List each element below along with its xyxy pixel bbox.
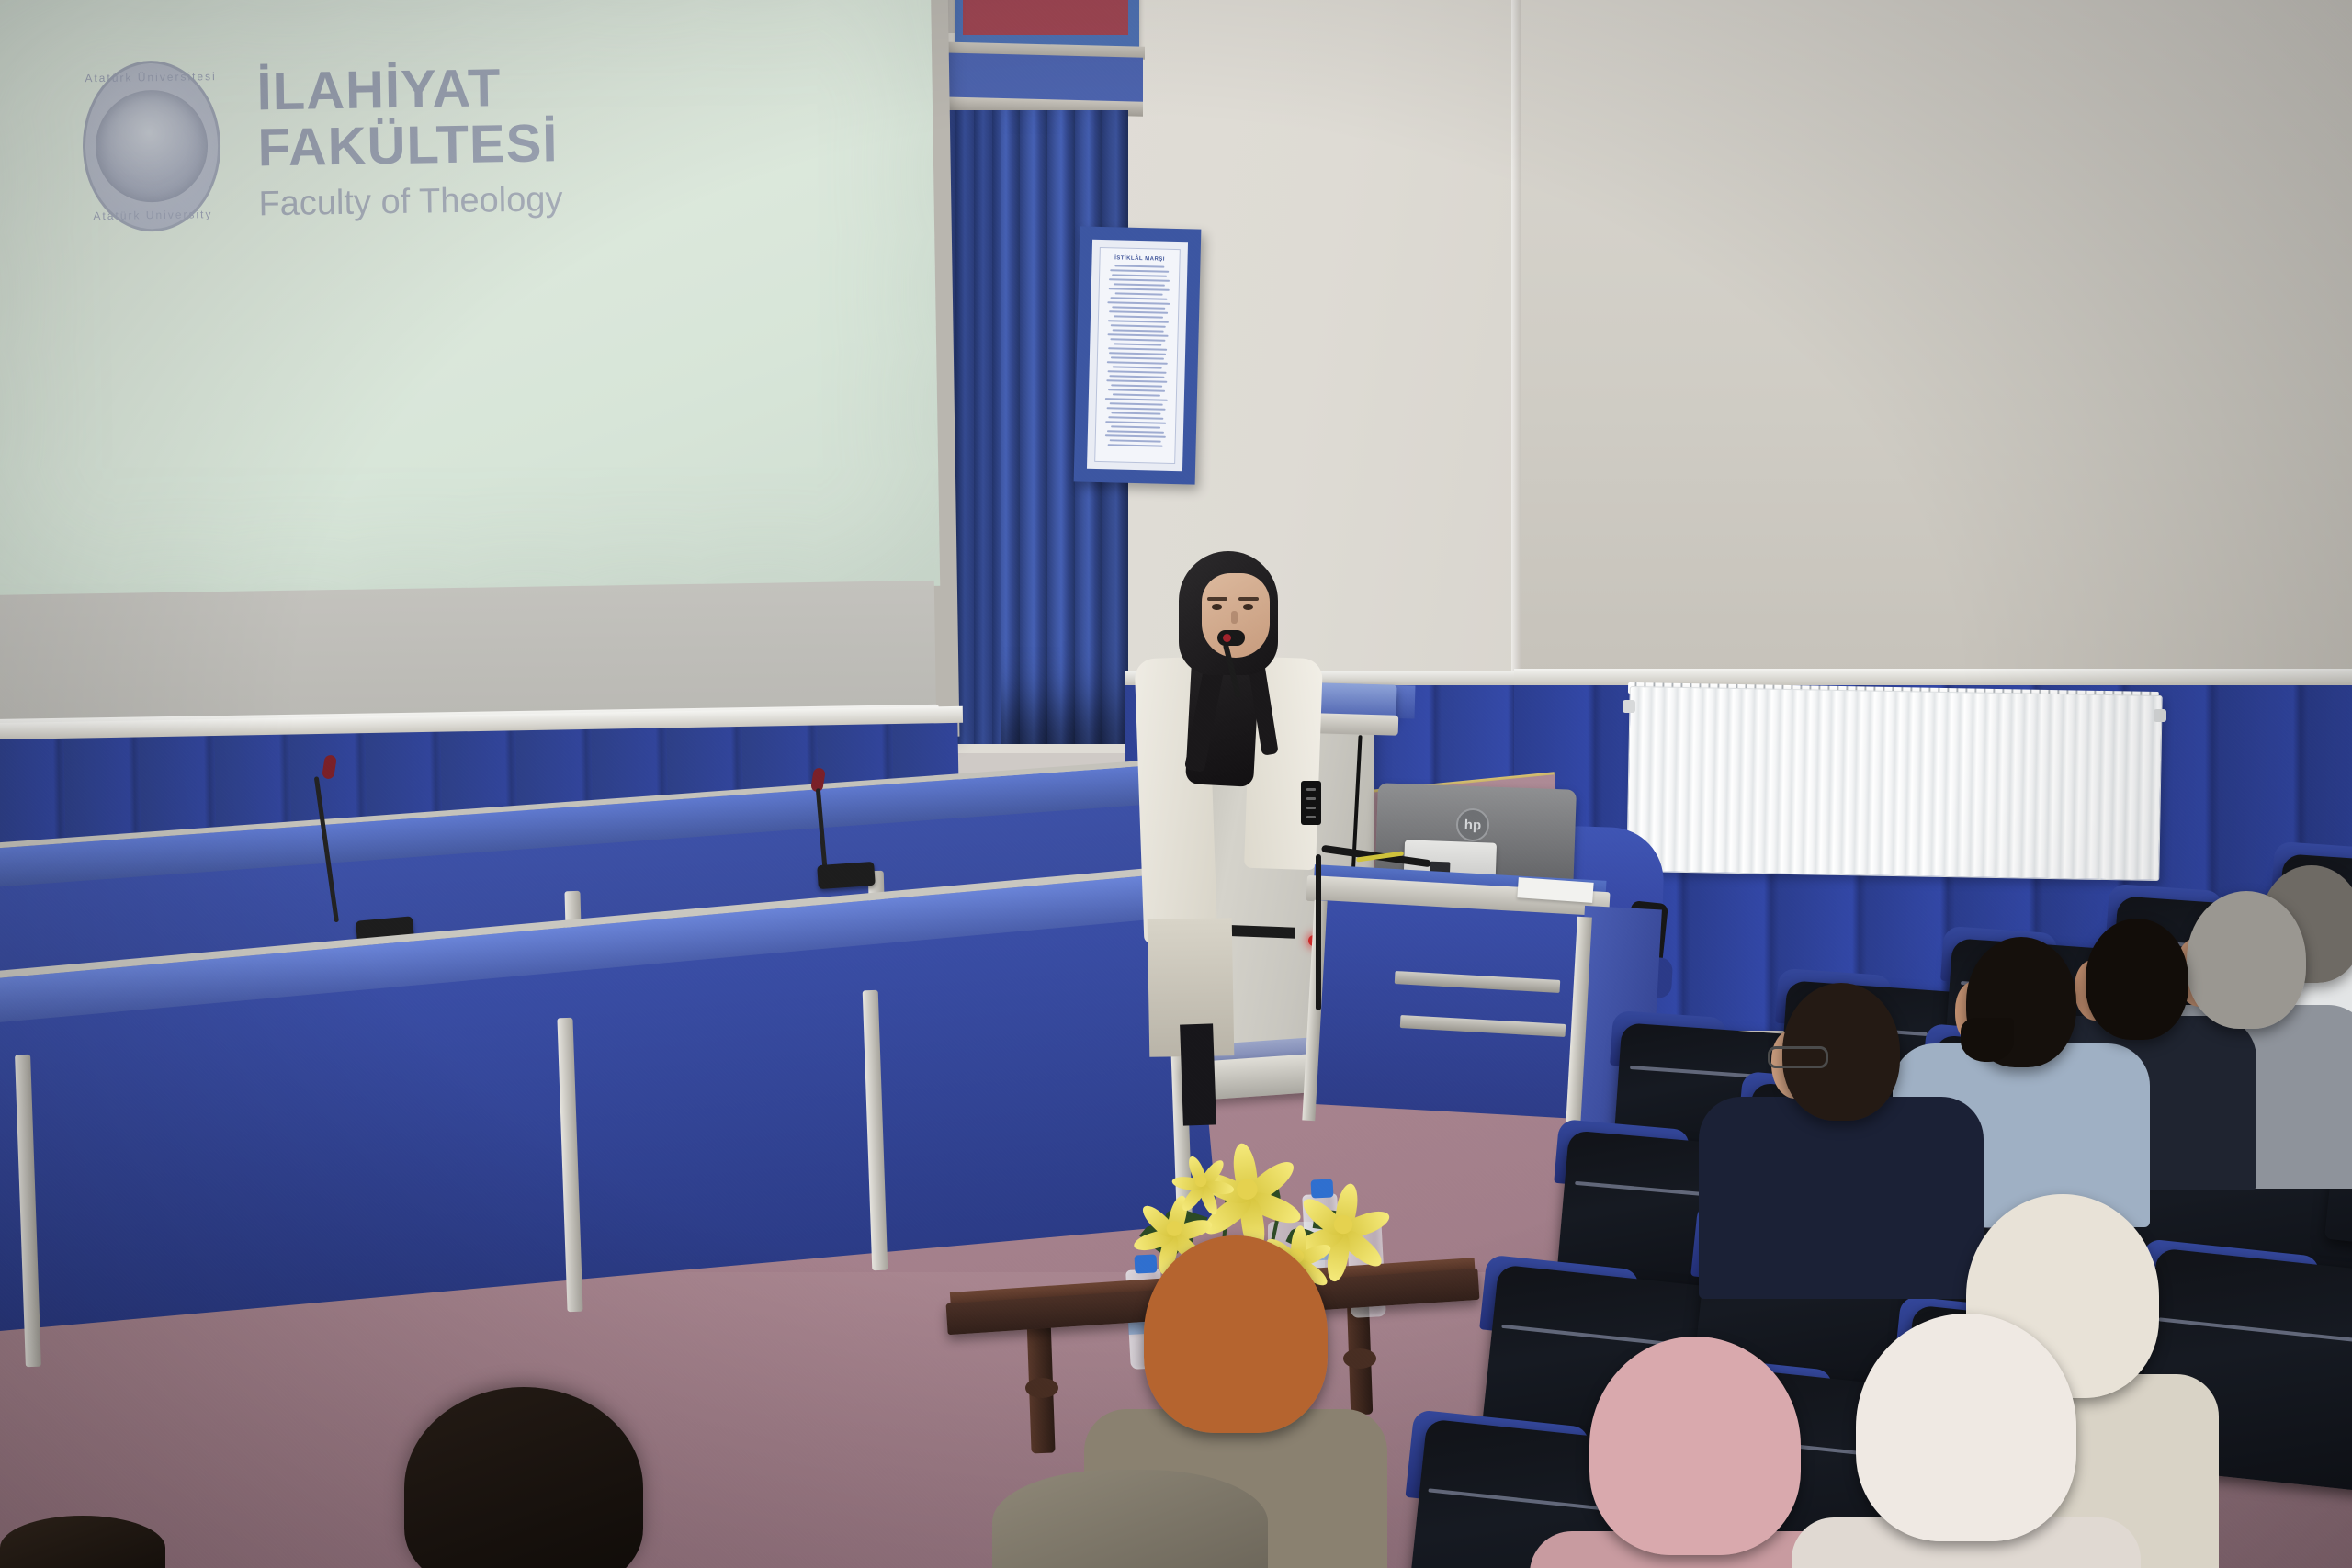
anthem-line xyxy=(1110,375,1164,378)
attendee-grey-haired-man xyxy=(2187,891,2306,1029)
anthem-line xyxy=(1107,407,1166,411)
attendee-woman-rust-scarf xyxy=(1144,1235,1328,1433)
anthem-line xyxy=(1108,333,1168,337)
anthem-line xyxy=(1110,402,1163,405)
speaker-nose xyxy=(1231,611,1238,624)
framed-anthem-icon: İSTİKLÂL MARŞI xyxy=(1074,226,1202,484)
auditorium-scene: Atatürk Üniversitesi Atatürk University … xyxy=(0,0,2352,1568)
university-seal-icon: Atatürk Üniversitesi Atatürk University xyxy=(82,60,222,232)
anthem-line xyxy=(1107,444,1163,446)
radiator-valve-left xyxy=(1623,700,1635,713)
anthem-line xyxy=(1108,347,1167,351)
anthem-line xyxy=(1107,430,1164,434)
anthem-line xyxy=(1113,393,1160,396)
wall-switch-panel[interactable] xyxy=(1301,781,1321,825)
anthem-line xyxy=(1105,398,1168,401)
anthem-line xyxy=(1111,338,1165,341)
slide-text-block: İLAHİYAT FAKÜLTESİ Faculty of Theology xyxy=(256,57,708,224)
slide-subtitle: Faculty of Theology xyxy=(258,178,708,225)
attendee-torso xyxy=(1699,1097,1984,1299)
microphone-icon xyxy=(1217,630,1245,646)
anthem-line xyxy=(1109,288,1169,291)
attendee-woman-white-scarf xyxy=(1856,1314,2076,1541)
anthem-line xyxy=(1107,379,1167,383)
slide-title: İLAHİYAT FAKÜLTESİ xyxy=(256,57,707,175)
anthem-line xyxy=(1110,439,1161,442)
eyeglasses-icon xyxy=(1768,1046,1828,1068)
notice-board-surface xyxy=(963,0,1128,35)
anthem-line xyxy=(1110,324,1166,327)
microphone-base xyxy=(817,862,876,889)
attendee-beard xyxy=(1961,1018,2014,1062)
anthem-text-lines xyxy=(1102,265,1174,447)
right-wall xyxy=(1521,0,2352,684)
anthem-line xyxy=(1111,356,1164,359)
anthem-line xyxy=(1106,361,1168,365)
anthem-line xyxy=(1110,297,1167,300)
foreground-attendee xyxy=(992,1470,1268,1568)
anthem-line xyxy=(1107,301,1170,305)
anthem-line xyxy=(1114,315,1164,318)
anthem-line xyxy=(1109,278,1170,282)
table-leg-knob xyxy=(1025,1378,1058,1398)
anthem-line xyxy=(1108,389,1165,392)
anthem-line xyxy=(1108,370,1167,374)
anthem-line xyxy=(1111,384,1162,387)
anthem-line xyxy=(1106,421,1166,424)
anthem-line xyxy=(1114,343,1161,345)
anthem-line xyxy=(1109,352,1166,355)
radiator-valve-right xyxy=(2154,709,2166,722)
anthem-paper: İSTİKLÂL MARŞI xyxy=(1094,247,1181,464)
speaker-brow-right xyxy=(1238,597,1259,601)
slide-content: Atatürk Üniversitesi Atatürk University … xyxy=(81,32,709,254)
anthem-line xyxy=(1110,269,1169,273)
anthem-line xyxy=(1111,425,1159,428)
desk-front-panel xyxy=(1306,900,1593,1119)
anthem-line xyxy=(1113,274,1167,276)
anthem-line xyxy=(1112,306,1165,309)
anthem-line xyxy=(1108,320,1170,323)
seal-top-text: Atatürk Üniversitesi xyxy=(85,70,218,85)
speaker-eye-right xyxy=(1243,604,1253,610)
wall-corner xyxy=(1511,0,1521,698)
anthem-line xyxy=(1109,310,1168,314)
attendee-young-man xyxy=(2086,919,2188,1040)
speaker-brow-left xyxy=(1207,597,1227,601)
microphone-led xyxy=(1223,634,1231,642)
anthem-line xyxy=(1105,434,1167,438)
anthem-line xyxy=(1114,283,1165,286)
anthem-line xyxy=(1115,265,1164,267)
wall-radiator-icon xyxy=(1626,686,2162,881)
anthem-line xyxy=(1115,292,1163,295)
anthem-line xyxy=(1111,412,1161,414)
anthem-heading: İSTİKLÂL MARŞI xyxy=(1106,255,1174,263)
attendee-woman-pink-scarf xyxy=(1589,1337,1801,1555)
seal-emblem xyxy=(95,89,209,203)
anthem-line xyxy=(1113,329,1164,332)
power-cable xyxy=(1316,854,1321,1010)
speaker-legs xyxy=(1180,1023,1216,1125)
seal-bottom-text: Atatürk University xyxy=(86,208,220,222)
frame-mat: İSTİKLÂL MARŞI xyxy=(1087,240,1188,471)
anthem-line xyxy=(1109,416,1163,419)
speaker-eye-left xyxy=(1212,604,1222,610)
table-leg-knob xyxy=(1343,1348,1376,1369)
anthem-line xyxy=(1113,366,1161,368)
